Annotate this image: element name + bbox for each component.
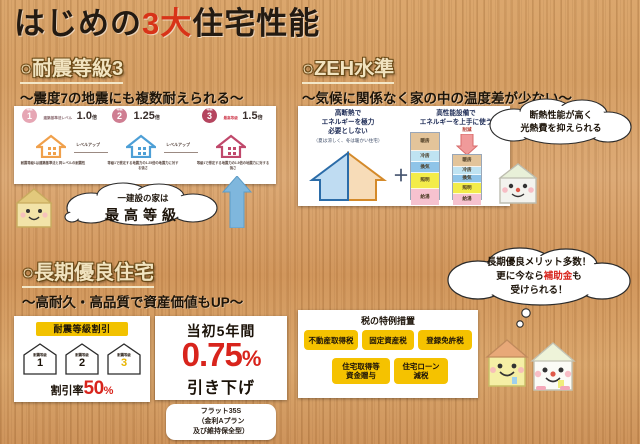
section-heading-long-term: ○長期優良住宅 ～高耐久・高品質で資産価値もUP～: [22, 256, 243, 311]
grade-unit-label-1: 倍: [92, 115, 97, 121]
energy-bar-before: 暖房 冷房 換気 照明 給湯: [410, 132, 440, 200]
page-title: はじめの3大住宅性能: [14, 2, 434, 46]
zeh-left-caption: 高断熱で エネルギーを極力 必要としない （夏は涼しく、冬は暖かい住宅）: [302, 109, 394, 145]
bar-segment-before-1: 冷房: [411, 151, 439, 162]
flat35s-line1: フラット35S: [166, 404, 276, 417]
long-term-bubble-line2-pre: 更に今なら: [496, 271, 544, 282]
earthquake-discount-panel: 耐震等級割引 耐震等級 1 耐震等級 2 耐震等級 3 割引率50%: [14, 316, 150, 402]
discount-house-label-3: 耐震等級 3: [106, 342, 142, 376]
grade-caption-1: 建築基準法レベル: [43, 116, 72, 120]
grade-value-3: 1.5倍: [242, 110, 262, 122]
levelup-label-1: レベルアップ: [76, 142, 100, 148]
grade-unit-3: 等級 3 最高等級 1.5倍: [202, 106, 280, 124]
seismic-grade-panel: 等級 1 建築基準法レベル 1.0倍 等級 2 1.25倍 等級 3 最高等級 …: [14, 106, 276, 184]
bar-segment-after-1: 冷房: [453, 167, 481, 175]
section-title-long-term: ○長期優良住宅: [22, 256, 154, 288]
grade-texts-2: 1.25倍: [133, 106, 159, 124]
seismic-bubble-text: 一建設の家は 最高等級: [63, 182, 223, 226]
seismic-bubble-line1: 一建設の家は: [117, 192, 168, 204]
bar-segment-after-2: 換気: [453, 175, 481, 183]
tax-tag-4[interactable]: 住宅ローン 減税: [394, 358, 448, 384]
rate-value: 0.75: [182, 336, 242, 373]
long-term-bubble-line1: 長期優良メリット多数！: [487, 256, 592, 270]
discount-house-num-2: 2: [64, 357, 100, 369]
discount-house-num-1: 1: [22, 357, 58, 369]
flat35s-badge: フラット35S （金利Aプラン 及び維持保全型）: [166, 404, 276, 440]
bar-segment-after-4: 給湯: [453, 194, 481, 205]
zeh-bubble-line2: 光熱費を抑えられる: [520, 122, 601, 135]
zeh-left-line2: エネルギーを極力: [302, 118, 394, 127]
discount-house-num-3: 3: [106, 357, 142, 369]
upward-arrow-icon: [222, 176, 252, 228]
insulated-house-icon: [308, 150, 388, 202]
bar-segment-before-2: 換気: [411, 162, 439, 173]
bar-segment-before-3: 照明: [411, 173, 439, 189]
grade-description-3: 等級1で想定する地震力の1.5倍の地震力に対する強さ: [196, 161, 270, 170]
bar-segment-after-3: 照明: [453, 183, 481, 194]
interest-rate-panel: 当初5年間 0.75% 引き下げ: [155, 316, 287, 400]
grade-unit-label-3: 倍: [258, 115, 263, 121]
tax-tag-0[interactable]: 不動産取得税: [304, 330, 358, 350]
zeh-bubble-text: 断熱性能が高く 光熱費を抑えられる: [488, 98, 634, 146]
grade-badge-2: 等級 2: [112, 108, 127, 123]
grade-caption-3: 最高等級: [223, 116, 237, 120]
grade-badge-1: 等級 1: [22, 108, 37, 123]
grade-value-2: 1.25倍: [133, 110, 159, 122]
zeh-bubble: 断熱性能が高く 光熱費を抑えられる: [488, 98, 634, 146]
long-term-bubble-line2: 更に今なら補助金も: [496, 270, 582, 284]
grade-badge-num-3: 3: [202, 111, 217, 122]
bar-segment-after-0: 暖房: [453, 155, 481, 167]
section-heading-seismic: ○耐震等級3 ～震度7の地震にも複数耐えられる～: [20, 52, 244, 107]
long-term-bubble: 長期優良メリット多数！ 更に今なら補助金も 受けられる！: [446, 246, 632, 308]
page-title-prefix: はじめの: [14, 6, 142, 41]
house-icon-grade-3: [216, 134, 246, 158]
grade-value-1: 1.0倍: [77, 110, 97, 122]
house-mascot-bottom-right: [528, 338, 578, 394]
house-icon-grade-1: [36, 134, 66, 158]
discount-rate-unit: %: [104, 385, 114, 397]
section-title-seismic: ○耐震等級3: [20, 52, 123, 84]
zeh-left-note: （夏は涼しく、冬は暖かい住宅）: [302, 136, 394, 145]
long-term-bubble-accent: 補助金: [544, 271, 573, 282]
discount-rate-value: 50: [84, 378, 104, 399]
flat35s-line3: 及び維持保全型）: [166, 427, 276, 437]
bar-segment-before-0: 暖房: [411, 133, 439, 151]
grade-description-2: 等級1で想定する地震力の1.25倍の地震力に対する強さ: [106, 161, 180, 170]
levelup-arrow-2: [164, 152, 198, 153]
rate-value-row: 0.75%: [155, 338, 287, 376]
bar-segment-before-4: 給湯: [411, 189, 439, 205]
grade-badge-3: 等級 3: [202, 108, 217, 123]
grade-badge-num-1: 1: [22, 111, 37, 122]
grade-badge-num-2: 2: [112, 111, 127, 122]
page-title-accent: 3大: [142, 6, 192, 41]
discount-title: 耐震等級割引: [36, 322, 128, 336]
section-title-zeh: ○ZEH水準: [302, 52, 394, 84]
levelup-arrow-1: [74, 152, 108, 153]
levelup-label-2: レベルアップ: [166, 142, 190, 148]
grade-unit-label-2: 倍: [155, 115, 160, 121]
zeh-left-line3: 必要としない: [302, 127, 394, 136]
flat35s-line2: （金利Aプラン: [166, 417, 276, 427]
grade-unit-2: 等級 2 1.25倍: [112, 106, 190, 124]
section-subtitle-seismic: ～震度7の地震にも複数耐えられる～: [20, 87, 244, 107]
energy-bar-after: 暖房 冷房 換気 照明 給湯: [452, 154, 482, 200]
long-term-bubble-line2-post: も: [572, 271, 582, 282]
rate-line3: 引き下げ: [155, 374, 287, 398]
discount-house-label-2: 耐震等級 2: [64, 342, 100, 376]
tax-tag-2[interactable]: 登録免許税: [418, 330, 472, 350]
tax-tag-1[interactable]: 固定資産税: [362, 330, 414, 350]
zeh-bubble-line1: 断熱性能が高く: [529, 109, 592, 122]
discount-rate: 割引率50%: [14, 378, 150, 400]
house-mascot-left: [14, 186, 54, 230]
long-term-bubble-line3: 受けられる！: [510, 284, 567, 298]
page-title-suffix: 住宅性能: [192, 6, 320, 41]
zeh-panel: 高断熱で エネルギーを極力 必要としない （夏は涼しく、冬は暖かい住宅） ＋ 高…: [298, 106, 510, 206]
grade-unit-1: 等級 1 建築基準法レベル 1.0倍: [22, 106, 100, 124]
seismic-bubble: 一建設の家は 最高等級: [63, 182, 223, 226]
reduction-label: 削減: [456, 127, 478, 133]
reduction-arrow: 削減: [456, 128, 478, 156]
zeh-left-line1: 高断熱で: [302, 109, 394, 118]
grade-texts-1: 建築基準法レベル 1.0倍: [43, 106, 97, 124]
tax-measures-panel: 税の特例措置 不動産取得税 固定資産税 登録免許税 住宅取得等 資金贈与 住宅ロ…: [298, 310, 478, 398]
house-mascot-bottom-left: [484, 336, 530, 390]
grade-texts-3: 最高等級 1.5倍: [223, 106, 262, 124]
rate-percent: %: [242, 346, 261, 371]
tax-tag-3[interactable]: 住宅取得等 資金贈与: [332, 358, 390, 384]
house-mascot-zeh: [496, 160, 540, 206]
grade-description-1: 耐震等級1は建築基準法と同レベルの耐震性: [16, 161, 90, 166]
seismic-bubble-line2: 最高等級: [105, 205, 181, 225]
tax-title: 税の特例措置: [298, 314, 478, 327]
section-subtitle-long-term: ～高耐久・高品質で資産価値もUP～: [22, 291, 243, 311]
long-term-bubble-text: 長期優良メリット多数！ 更に今なら補助金も 受けられる！: [446, 246, 632, 308]
plus-sign: ＋: [393, 162, 409, 186]
thought-bubble-dots: [512, 308, 536, 336]
discount-rate-label: 割引率: [51, 385, 84, 397]
house-icon-grade-2: [126, 134, 156, 158]
discount-house-label-1: 耐震等級 1: [22, 342, 58, 376]
